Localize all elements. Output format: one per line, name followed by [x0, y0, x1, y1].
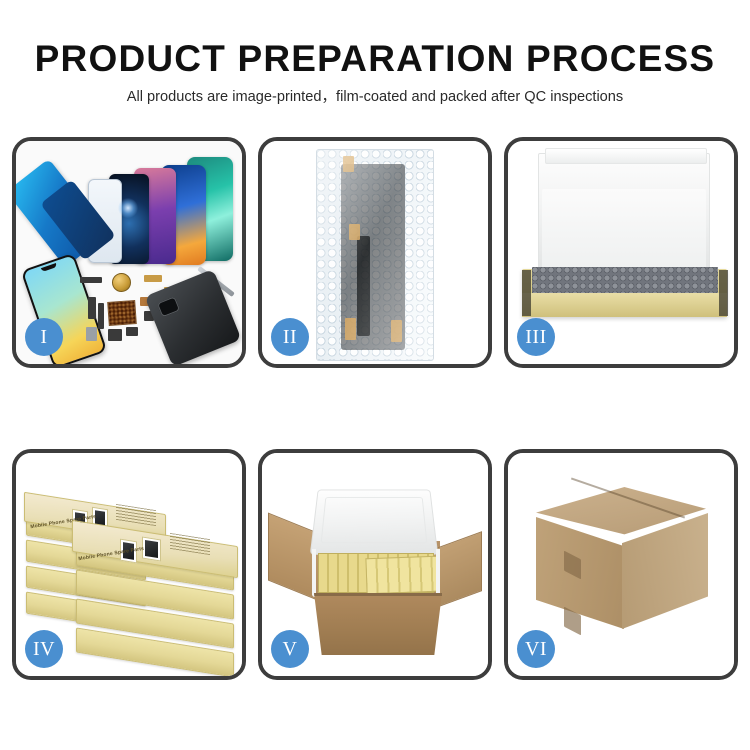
step-badge-6: VI	[517, 630, 555, 668]
styrofoam-lid-icon	[310, 490, 438, 555]
page-subtitle: All products are image-printed，film-coat…	[0, 90, 750, 105]
screen-swirl-icon	[118, 198, 138, 218]
carton-front-wall-icon	[314, 593, 442, 655]
process-step-panel-4[interactable]: Mobile Phone Spare Parts Mobile Phone Sp…	[12, 449, 246, 680]
tape-piece-icon	[349, 224, 360, 240]
component-speaker-icon	[80, 277, 102, 283]
process-step-panel-3[interactable]: III	[504, 137, 738, 368]
component-button-icon	[108, 329, 122, 341]
yellow-box-front-icon	[522, 293, 727, 317]
wrapped-flex-cable-icon	[357, 236, 370, 336]
foam-sheet-icon	[542, 189, 706, 273]
vibration-motor-icon	[112, 273, 131, 292]
process-step-panel-1[interactable]: I	[12, 137, 246, 368]
component-ribbon-icon	[98, 303, 104, 329]
process-step-panel-6[interactable]: VI	[504, 449, 738, 680]
component-connector-icon	[126, 327, 138, 336]
tape-piece-icon	[343, 156, 354, 172]
step-badge-3: III	[517, 318, 555, 356]
component-camera-icon	[86, 327, 97, 341]
box-end-right-icon	[719, 270, 728, 316]
component-gold-flex-icon	[144, 275, 162, 282]
styrofoam-wall-icon	[312, 549, 440, 597]
page-title: PRODUCT PREPARATION PROCESS	[0, 40, 750, 77]
page-header: PRODUCT PREPARATION PROCESS All products…	[0, 0, 750, 105]
bubble-wrap-bag-icon	[316, 149, 434, 361]
tape-piece-icon	[345, 318, 356, 340]
step-badge-1: I	[25, 318, 63, 356]
step-badge-2: II	[271, 318, 309, 356]
component-flex-cable-icon	[88, 297, 96, 319]
carton-seam-icon	[314, 593, 442, 596]
box-print-swatch-icon	[142, 536, 161, 561]
box-end-left-icon	[522, 270, 531, 316]
step-badge-4: IV	[25, 630, 63, 668]
process-step-grid: I II III	[12, 137, 738, 680]
bubble-filler-icon	[532, 267, 718, 295]
step-badge-5: V	[271, 630, 309, 668]
chip-grid-icon	[107, 300, 137, 326]
phone-notch-icon	[41, 263, 57, 272]
tape-piece-icon	[391, 320, 402, 342]
process-step-panel-2[interactable]: II	[258, 137, 492, 368]
process-step-panel-5[interactable]: V	[258, 449, 492, 680]
